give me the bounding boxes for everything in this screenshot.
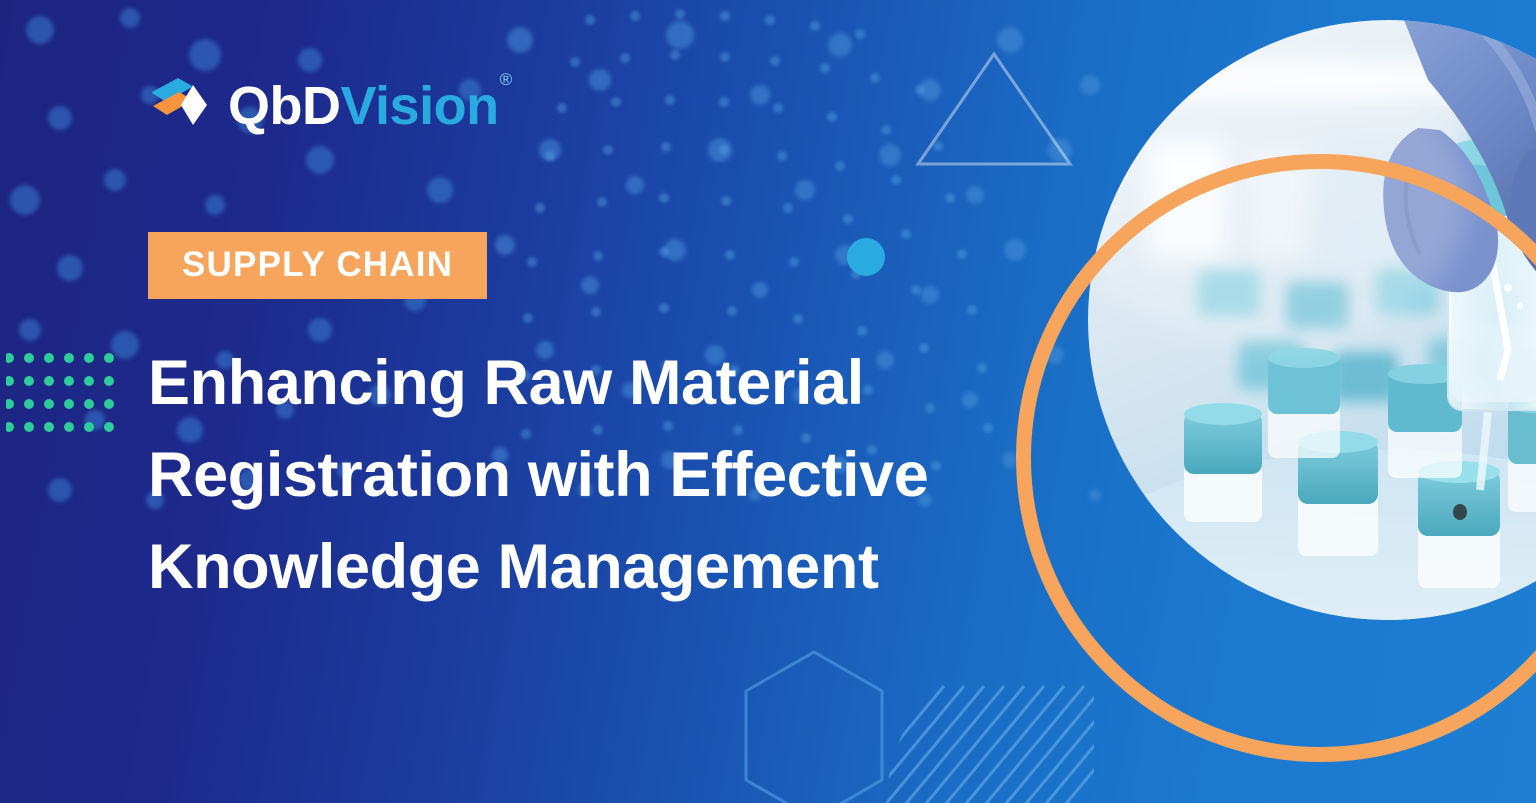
category-badge-label: SUPPLY CHAIN bbox=[182, 247, 453, 282]
brand-name-part1: QbD bbox=[228, 76, 341, 136]
cyan-circle-dot bbox=[847, 238, 885, 276]
hero-media bbox=[1012, 14, 1536, 803]
headline-line-3: Knowledge Management bbox=[148, 521, 1028, 613]
orange-ring-accent bbox=[1016, 154, 1536, 762]
green-dot-grid bbox=[6, 352, 116, 449]
brand-name-part2: Vision bbox=[341, 76, 499, 136]
brand-logo[interactable]: QbDVision® bbox=[148, 72, 511, 138]
lab-photo-circle bbox=[1088, 20, 1536, 620]
diagonal-stripe-arc bbox=[884, 676, 1094, 803]
cube-logo-icon bbox=[148, 72, 214, 138]
headline-line-2: Registration with Effective bbox=[148, 429, 1028, 521]
headline-line-1: Enhancing Raw Material bbox=[148, 337, 1028, 429]
hexagon-outline-icon bbox=[738, 648, 890, 803]
category-badge: SUPPLY CHAIN bbox=[148, 232, 487, 299]
headline: Enhancing Raw Material Registration with… bbox=[148, 337, 1028, 613]
brand-wordmark: QbDVision® bbox=[228, 79, 511, 133]
triangle-outline-icon bbox=[912, 48, 1076, 170]
marketing-banner: QbDVision® SUPPLY CHAIN Enhancing Raw Ma… bbox=[0, 0, 1536, 803]
registered-trademark-icon: ® bbox=[500, 70, 512, 89]
